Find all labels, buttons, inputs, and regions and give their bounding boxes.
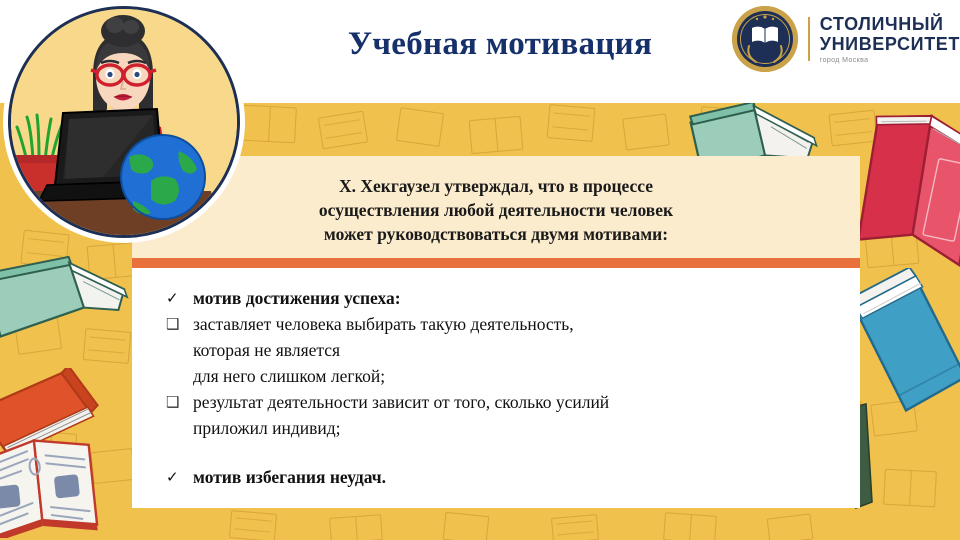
bg-book-outline [883,469,937,508]
bg-book-outline [329,514,383,540]
bg-book-outline [622,113,670,150]
bg-book-outline [241,105,297,144]
avatar-artwork [11,9,237,235]
logo-divider [808,17,810,61]
bg-book-outline [663,512,717,540]
bullet-text: приложил индивид; [193,416,341,441]
bullet-list: ✓мотив достижения успеха:❑заставляет чел… [166,286,830,490]
body-content-box: ✓мотив достижения успеха:❑заставляет чел… [132,268,860,508]
bg-book-outline [767,513,814,540]
box-bullet: ❑ [166,390,182,415]
red-book-right-illustration [848,104,960,294]
university-seal-icon [732,6,798,72]
bullet-row: для него слишком легкой; [166,364,830,389]
statement-line-3: может руководствоваться двумя мотивами: [158,222,834,246]
bg-book-outline [547,104,596,142]
globe-icon [121,135,205,219]
bullet-row: ✓мотив достижения успеха: [166,286,830,311]
bullet-row: которая не является [166,338,830,363]
page-title: Учебная мотивация [250,26,750,63]
bullet-text: которая не является [193,338,340,363]
logo-subtitle: город Москва [820,57,960,64]
statement-box: X. Хекгаузел утверждал, что в процессе о… [132,156,860,262]
slide-canvas: Учебная мотивация СТОЛИЧНЫЙ УНИВЕРСИТЕТ … [0,0,960,540]
bg-book-outline [551,514,599,540]
bullet-row: ❑заставляет человека выбирать такую деят… [166,312,830,337]
bg-book-outline [229,510,277,540]
bullet-text: заставляет человека выбирать такую деяте… [193,312,574,337]
orange-divider-bar [132,258,860,268]
bullet-row: ✓мотив избегания неудач. [166,465,830,490]
bullet-row: приложил индивид; [166,416,830,441]
bullet-row: ❑результат деятельности зависит от того,… [166,390,830,415]
bg-book-outline [396,107,444,147]
university-logo: СТОЛИЧНЫЙ УНИВЕРСИТЕТ город Москва [732,6,960,72]
bg-book-outline [469,116,524,154]
blue-book-bottom-right-illustration [856,268,960,418]
open-book-bottom-left-illustration [0,418,140,538]
laurel-wreath-icon [732,6,798,72]
bullet-text: мотив избегания неудач. [193,465,386,490]
check-bullet: ✓ [166,465,182,490]
logo-line-2: УНИВЕРСИТЕТ [820,35,960,53]
bg-book-outline [318,111,368,150]
bg-book-outline [443,512,490,540]
bullet-text: мотив достижения успеха: [193,286,401,311]
bullet-text: результат деятельности зависит от того, … [193,390,609,415]
box-bullet: ❑ [166,312,182,337]
bullet-text: для него слишком легкой; [193,364,385,389]
statement-line-2: осуществления любой деятельности человек [158,198,834,222]
logo-text-block: СТОЛИЧНЫЙ УНИВЕРСИТЕТ город Москва [820,15,960,64]
check-bullet: ✓ [166,286,182,311]
statement-line-1: X. Хекгаузел утверждал, что в процессе [158,174,834,198]
logo-line-1: СТОЛИЧНЫЙ [820,15,960,33]
teal-book-left-illustration [0,252,136,367]
woman-at-laptop-illustration [8,6,240,238]
